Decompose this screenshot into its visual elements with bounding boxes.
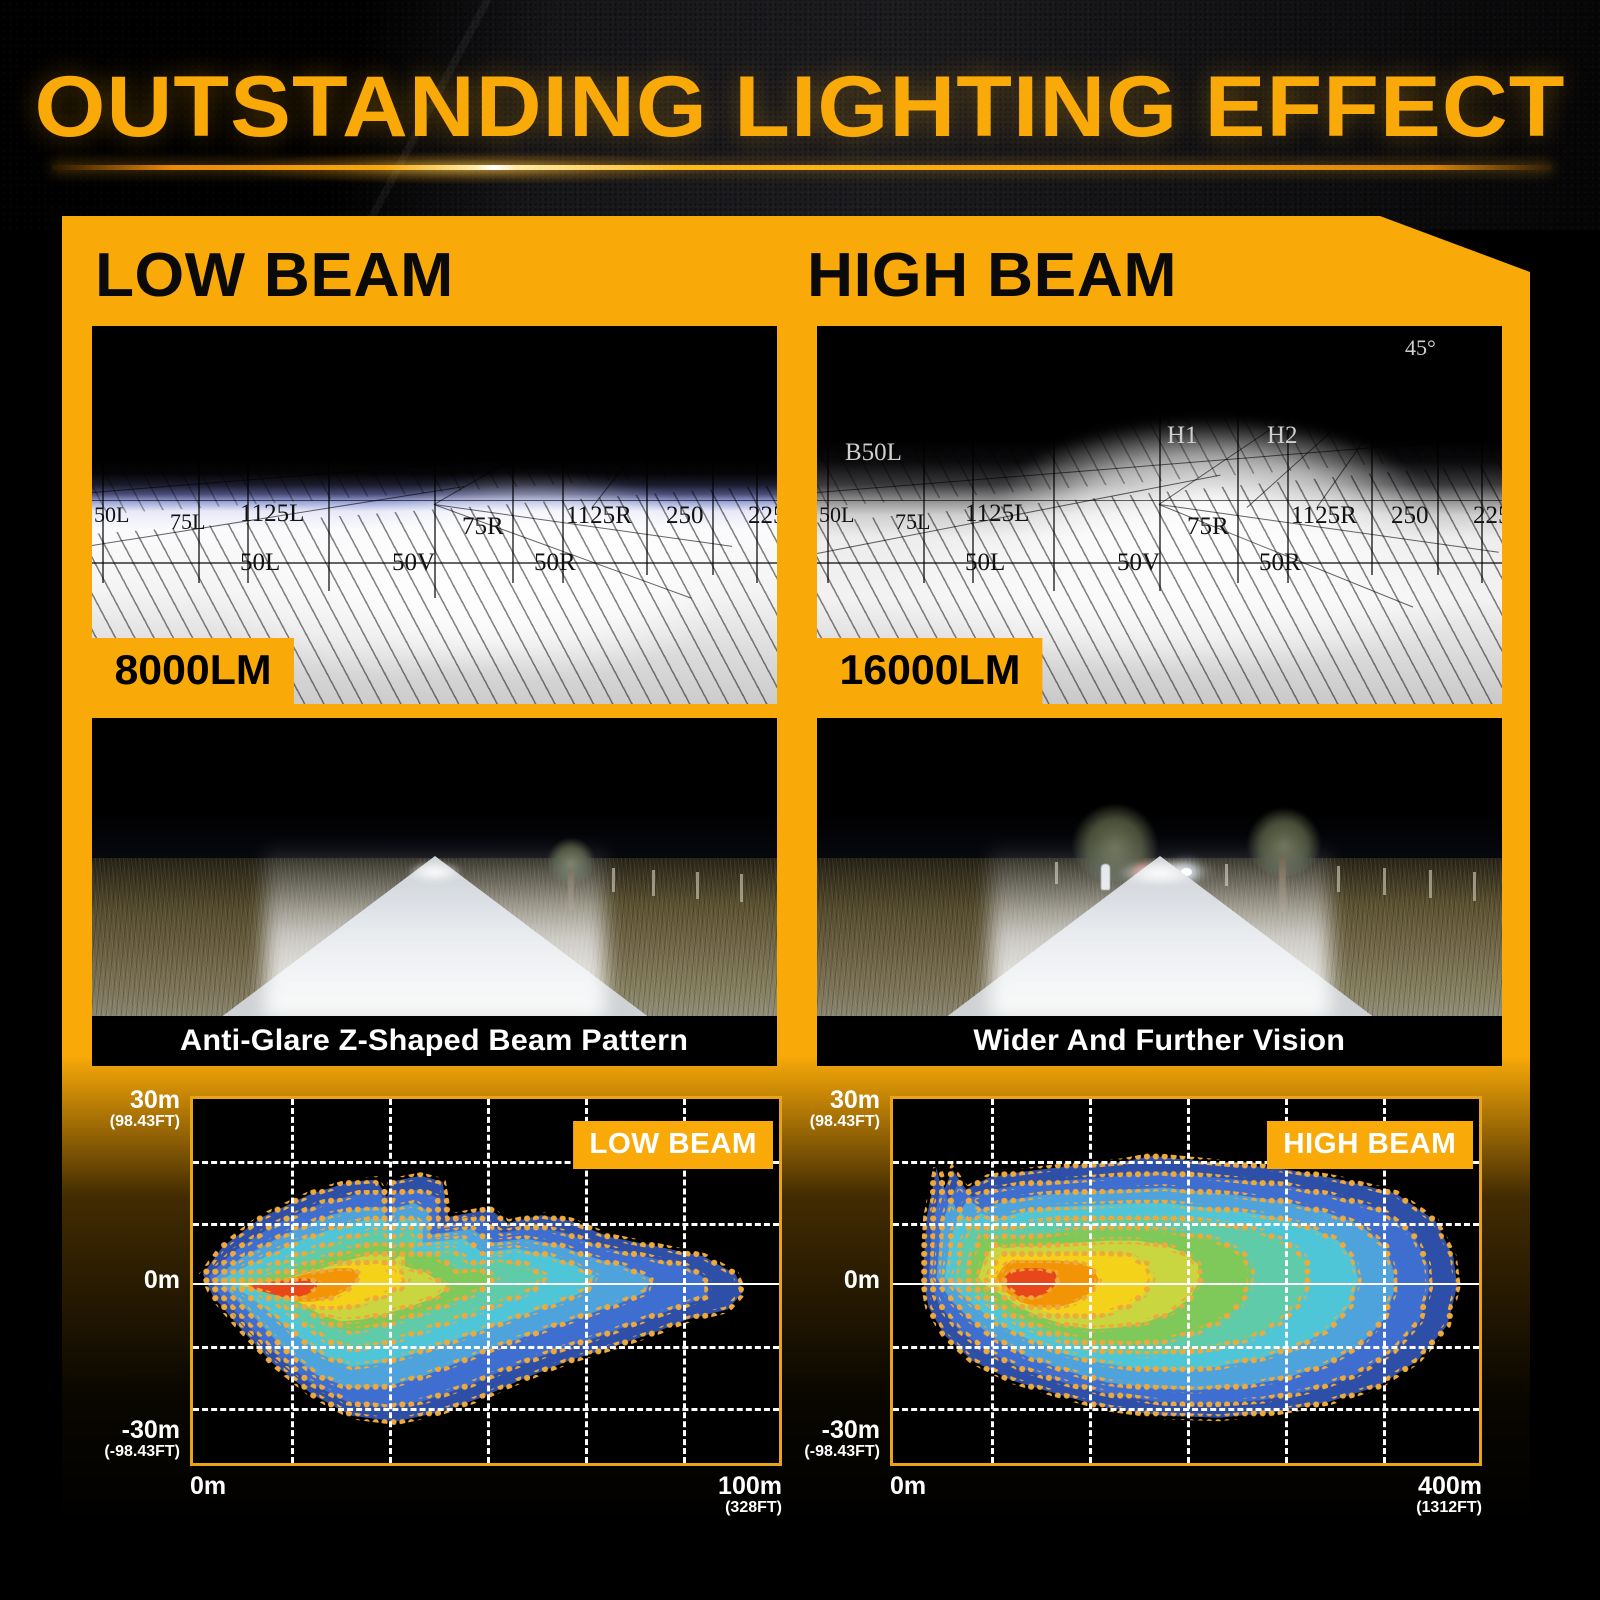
y-axis-label-top-low: 30m (98.43FT) (98, 1088, 180, 1131)
test-label-75L: 75L (895, 509, 930, 535)
gridline-h-4 (893, 1408, 1479, 1411)
test-label-50L-outer: 50L (94, 502, 129, 528)
column-high-beam: B50L H1 H2 45° 50L 75L 1125L 50L 50V 75R… (817, 326, 1502, 1066)
panel-heading-low-beam: LOW BEAM (95, 240, 454, 311)
column-low-beam: 50L 75L 1125L 50L 50V 75R 50R 1125R 250 … (92, 326, 777, 1066)
y-axis-label-center-low: 0m (98, 1268, 180, 1293)
x-axis-label-end-low: 100m (328FT) (632, 1474, 782, 1517)
test-label-250: 250 (1391, 502, 1429, 530)
test-label-1125R: 1125R (566, 502, 632, 530)
photometric-test-image-high: B50L H1 H2 45° 50L 75L 1125L 50L 50V 75R… (817, 326, 1502, 704)
test-label-H1: H1 (1167, 422, 1198, 450)
y-axis-label-bottom-high: -30m (-98.43FT) (798, 1418, 880, 1461)
panel-heading-high-beam: HIGH BEAM (807, 240, 1177, 311)
isolux-chart-high-beam: 30m (98.43FT) 0m -30m (-98.43FT) 0m 400m… (798, 1082, 1498, 1526)
x-axis-label-start-low: 0m (190, 1474, 330, 1499)
isolux-plot-area-high: HIGH BEAM (890, 1096, 1482, 1466)
test-label-250: 250 (666, 502, 704, 530)
isolux-plot-area-low: LOW BEAM (190, 1096, 782, 1466)
x-axis-label-start-high: 0m (890, 1474, 1030, 1499)
road-scene-high (817, 718, 1502, 1018)
glow-line (52, 165, 1552, 170)
isolux-charts: 30m (98.43FT) 0m -30m (-98.43FT) 0m 100m… (62, 1082, 1530, 1526)
gridline-h-3 (193, 1346, 779, 1349)
photometric-test-image-low: 50L 75L 1125L 50L 50V 75R 50R 1125R 250 … (92, 326, 777, 704)
y-axis-label-bottom-low: -30m (-98.43FT) (98, 1418, 180, 1461)
content-frame: LOW BEAM HIGH BEAM (62, 216, 1530, 1526)
test-label-50L-inner: 50L (965, 549, 1005, 577)
test-label-225: 225 (1473, 502, 1502, 530)
test-label-50L-inner: 50L (240, 549, 280, 577)
media-grid: 50L 75L 1125L 50L 50V 75R 50R 1125R 250 … (92, 326, 1502, 1066)
page-title: OUTSTANDING LIGHTING EFFECT (0, 58, 1600, 157)
test-label-H2: H2 (1267, 422, 1298, 450)
chart-badge-high: HIGH BEAM (1267, 1121, 1473, 1169)
vanishing-point-glow (408, 862, 462, 882)
gridline-h-4 (193, 1408, 779, 1411)
glow-divider (0, 146, 1600, 190)
test-label-1125R: 1125R (1291, 502, 1357, 530)
gridline-h-2 (193, 1223, 779, 1226)
lumen-badge-high: 16000LM (817, 638, 1043, 704)
caption-text-high: Wider And Further Vision (974, 1024, 1346, 1058)
lumen-badge-low: 8000LM (92, 638, 294, 704)
test-label-225: 225 (748, 502, 777, 530)
test-label-75R: 75R (462, 513, 504, 541)
test-label-50L-outer: 50L (819, 502, 854, 528)
isolux-chart-low-beam: 30m (98.43FT) 0m -30m (-98.43FT) 0m 100m… (98, 1082, 798, 1526)
road-scene-low (92, 718, 777, 1018)
chart-badge-low: LOW BEAM (573, 1121, 773, 1169)
y-axis-label-center-high: 0m (798, 1268, 880, 1293)
test-label-50V: 50V (392, 549, 435, 577)
center-axis-line-low (193, 1283, 779, 1285)
road-photo-high: Wider And Further Vision (817, 718, 1502, 1066)
gridline-h-3 (893, 1346, 1479, 1349)
x-axis-label-end-high: 400m (1312FT) (1332, 1474, 1482, 1517)
test-label-50V: 50V (1117, 549, 1160, 577)
test-label-50R: 50R (534, 549, 576, 577)
test-label-1125L: 1125L (240, 500, 304, 528)
gridline-h-2 (893, 1223, 1479, 1226)
y-axis-label-top-high: 30m (98.43FT) (798, 1088, 880, 1131)
panel-headings: LOW BEAM HIGH BEAM (62, 240, 1530, 330)
test-label-75L: 75L (170, 509, 205, 535)
center-axis-line-high (893, 1283, 1479, 1285)
test-label-75R: 75R (1187, 513, 1229, 541)
vanishing-point-glow (1120, 860, 1200, 886)
test-label-45deg: 45° (1405, 335, 1436, 361)
road-photo-low: Anti-Glare Z-Shaped Beam Pattern (92, 718, 777, 1066)
test-label-1125L: 1125L (965, 500, 1029, 528)
test-label-50R: 50R (1259, 549, 1301, 577)
caption-text-low: Anti-Glare Z-Shaped Beam Pattern (180, 1024, 688, 1058)
product-feature-page: OUTSTANDING LIGHTING EFFECT LOW BEAM HIG… (0, 0, 1600, 1600)
test-label-B50L: B50L (845, 439, 902, 467)
